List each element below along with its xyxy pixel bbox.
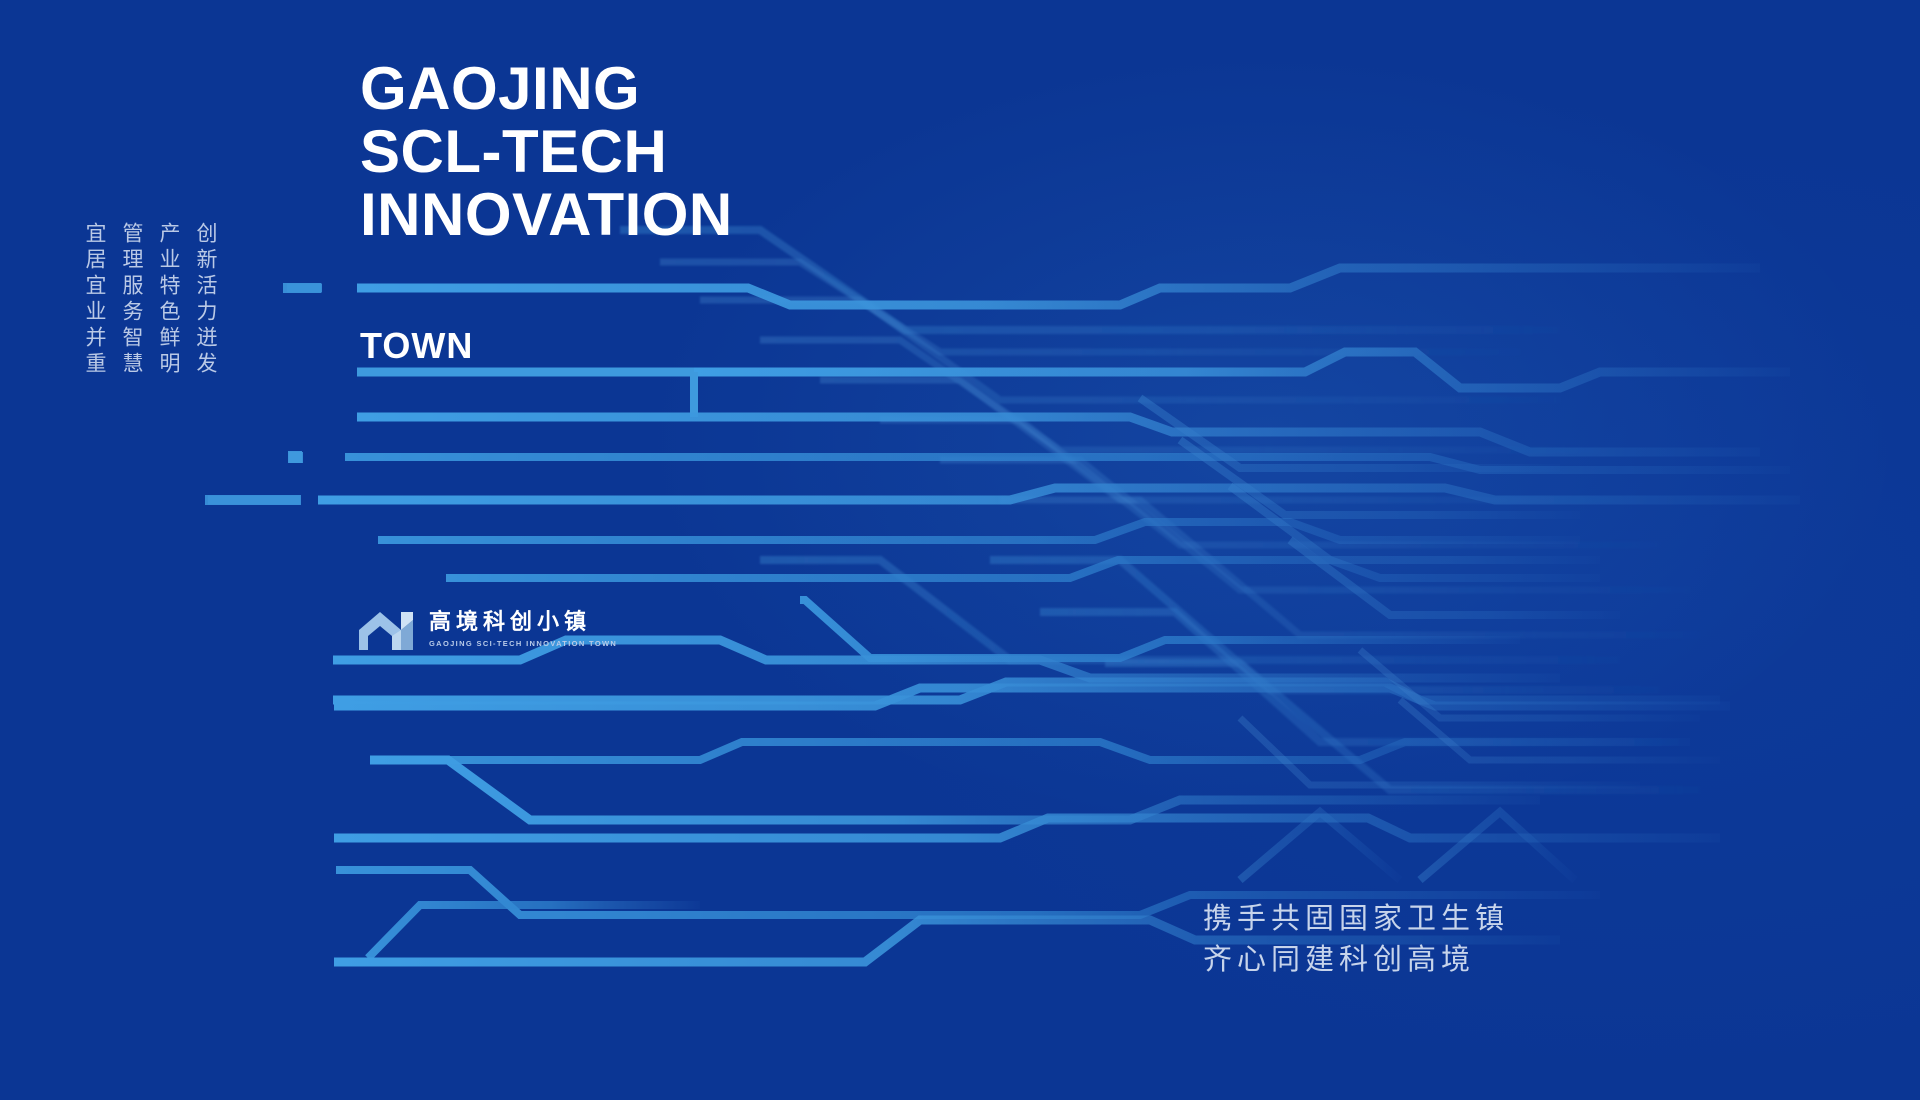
title-town-label: TOWN: [360, 325, 473, 367]
title-line-3: INNOVATION: [360, 186, 733, 245]
logo: 高境科创小镇 GAOJING SCI-TECH INNOVATION TOWN: [356, 606, 617, 652]
vertical-slogan-column-3: 管理服务智慧: [121, 222, 142, 378]
title-line-1: GAOJING: [360, 60, 733, 119]
circuit-line-graphic: [0, 0, 1920, 1100]
title-line-2: SCL-TECH: [360, 123, 733, 182]
vertical-slogan-column-4: 宜居宜业并重: [84, 222, 105, 378]
vertical-slogan: 创新活力迸发 产业特色鲜明 管理服务智慧 宜居宜业并重: [84, 222, 216, 378]
bottom-slogan: 携手共固国家卫生镇 齐心同建科创高境: [1203, 898, 1509, 980]
page-title: GAOJING SCL-TECH INNOVATION: [360, 60, 733, 248]
poster-canvas: 创新活力迸发 产业特色鲜明 管理服务智慧 宜居宜业并重 GAOJING SCL-…: [0, 0, 1920, 1100]
vertical-slogan-column-2: 产业特色鲜明: [158, 222, 179, 378]
logo-name-cn: 高境科创小镇: [429, 610, 617, 635]
logo-text-block: 高境科创小镇 GAOJING SCI-TECH INNOVATION TOWN: [429, 610, 617, 647]
house-building-icon: [356, 606, 418, 652]
bottom-slogan-line-1: 携手共固国家卫生镇: [1203, 898, 1509, 939]
vertical-slogan-column-1: 创新活力迸发: [195, 222, 216, 378]
logo-name-en: GAOJING SCI-TECH INNOVATION TOWN: [429, 639, 617, 648]
bottom-slogan-line-2: 齐心同建科创高境: [1203, 939, 1509, 980]
